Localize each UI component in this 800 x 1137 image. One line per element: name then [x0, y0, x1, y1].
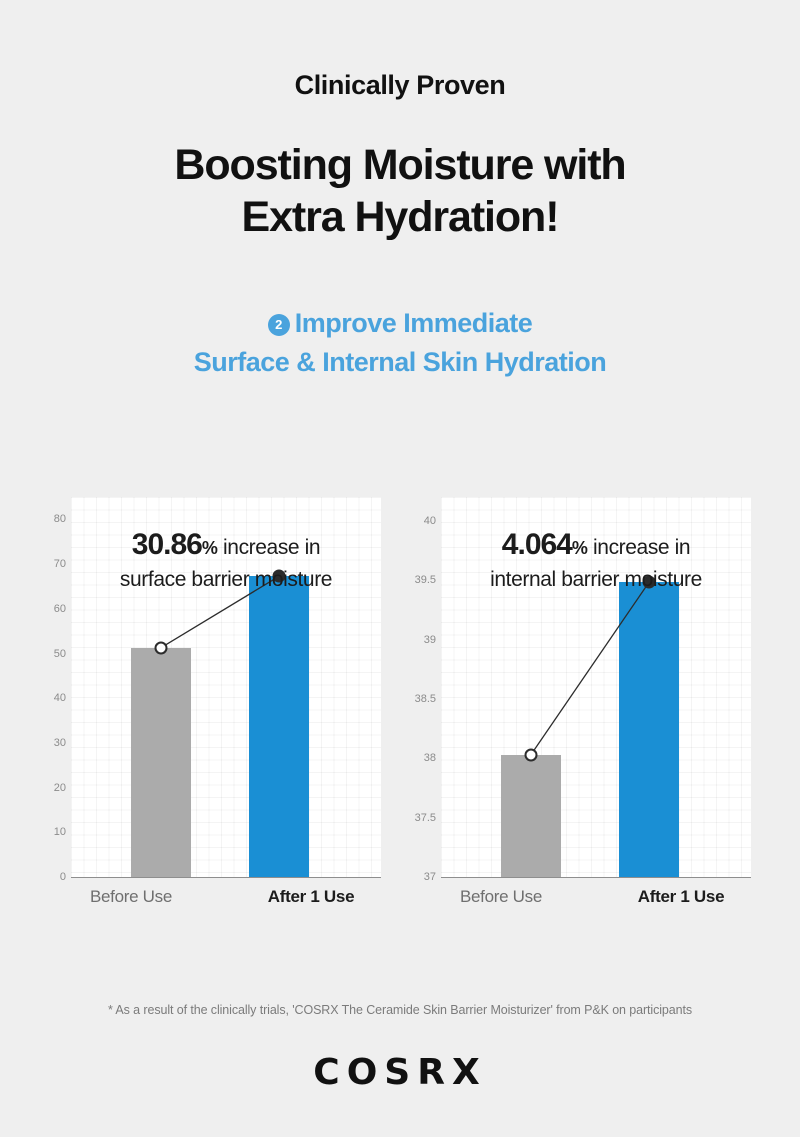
y-tick: 70: [28, 558, 66, 570]
brand-logo: COSRX: [0, 1052, 800, 1093]
annotation-percent: %: [202, 538, 218, 558]
annotation-percent: %: [572, 538, 588, 558]
y-tick: 50: [28, 648, 66, 660]
eyebrow-text: Clinically Proven: [0, 70, 800, 101]
y-tick: 20: [28, 782, 66, 794]
y-tick: 39.5: [398, 574, 436, 586]
y-tick: 38: [398, 752, 436, 764]
y-tick: 80: [28, 513, 66, 525]
plot-area: 30.86% increase in surface barrier moist…: [71, 497, 381, 877]
charts-container: 0 10 20 30 40 50 60 70 80 30.86% increas…: [0, 497, 800, 917]
x-label-after: After 1 Use: [241, 887, 381, 907]
annotation-line-2: surface barrier moisture: [71, 566, 381, 593]
x-axis-labels: Before Use After 1 Use: [441, 887, 751, 917]
page-title: Boosting Moisture with Extra Hydration!: [0, 139, 800, 244]
headline-line-2: Extra Hydration!: [0, 191, 800, 243]
subtitle-line-2: Surface & Internal Skin Hydration: [0, 343, 800, 382]
y-tick: 39: [398, 634, 436, 646]
y-tick: 30: [28, 737, 66, 749]
footnote-text: * As a result of the clinically trials, …: [0, 1003, 800, 1017]
data-point-before: [525, 748, 538, 761]
y-tick: 40: [28, 692, 66, 704]
step-badge: 2: [268, 314, 290, 336]
chart-internal-moisture: 37 37.5 38 38.5 39 39.5 40 4.064% increa…: [398, 497, 758, 917]
chart-annotation: 30.86% increase in surface barrier moist…: [71, 525, 381, 593]
y-tick: 38.5: [398, 693, 436, 705]
chart-surface-moisture: 0 10 20 30 40 50 60 70 80 30.86% increas…: [28, 497, 388, 917]
data-point-before: [155, 641, 168, 654]
x-label-before: Before Use: [431, 887, 571, 907]
annotation-line-2: internal barrier moisture: [441, 566, 751, 593]
section-subtitle: 2Improve Immediate Surface & Internal Sk…: [0, 304, 800, 382]
annotation-value: 30.86: [132, 528, 202, 561]
y-tick: 40: [398, 515, 436, 527]
y-tick: 37.5: [398, 812, 436, 824]
y-tick: 60: [28, 603, 66, 615]
x-label-before: Before Use: [61, 887, 201, 907]
subtitle-line-1: Improve Immediate: [295, 308, 533, 338]
y-tick: 0: [28, 871, 66, 883]
annotation-rest: increase in: [218, 536, 321, 559]
y-tick: 37: [398, 871, 436, 883]
plot-area: 4.064% increase in internal barrier mois…: [441, 497, 751, 877]
y-tick: 10: [28, 826, 66, 838]
headline-line-1: Boosting Moisture with: [174, 141, 625, 189]
x-label-after: After 1 Use: [611, 887, 751, 907]
y-axis-right-chart: 37 37.5 38 38.5 39 39.5 40: [398, 497, 436, 877]
x-axis-line: [71, 877, 381, 878]
annotation-value: 4.064: [502, 528, 572, 561]
x-axis-labels: Before Use After 1 Use: [71, 887, 381, 917]
x-axis-line: [441, 877, 751, 878]
chart-annotation: 4.064% increase in internal barrier mois…: [441, 525, 751, 593]
y-axis-left: 0 10 20 30 40 50 60 70 80: [28, 497, 66, 877]
infographic-page: Clinically Proven Boosting Moisture with…: [0, 70, 800, 1137]
annotation-rest: increase in: [588, 536, 691, 559]
